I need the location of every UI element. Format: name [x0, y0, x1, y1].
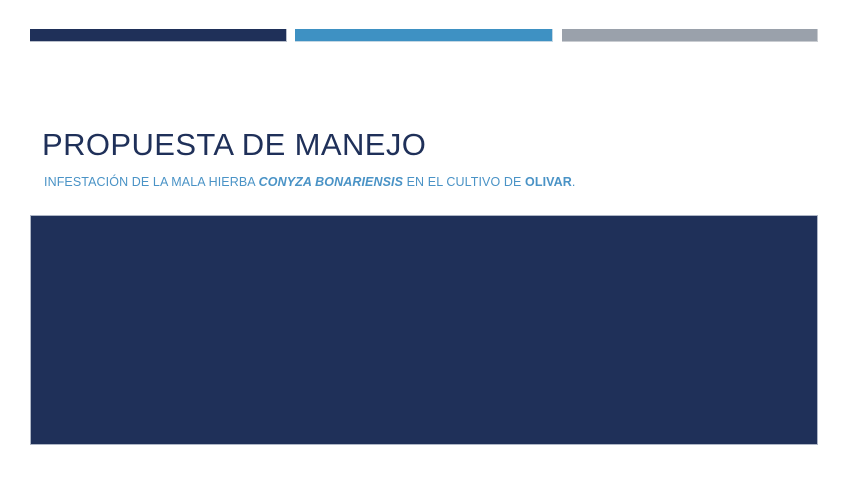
subtitle-lead-text: INFESTACIÓN DE LA MALA HIERBA — [44, 175, 259, 189]
decorative-rule-navy-segment — [30, 29, 287, 42]
title-area: PROPUESTA DE MANEJO INFESTACIÓN DE LA MA… — [42, 128, 812, 190]
subtitle-tail-text: . — [572, 175, 576, 189]
slide-title[interactable]: PROPUESTA DE MANEJO — [42, 128, 812, 163]
presentation-slide: PROPUESTA DE MANEJO INFESTACIÓN DE LA MA… — [0, 0, 848, 477]
decorative-rule-band — [0, 29, 848, 42]
decorative-rule-blue-segment — [295, 29, 553, 42]
subtitle-middle-text: EN EL CULTIVO DE — [403, 175, 525, 189]
slide-subtitle[interactable]: INFESTACIÓN DE LA MALA HIERBA CONYZA BON… — [44, 175, 812, 190]
content-placeholder-block[interactable] — [30, 215, 818, 445]
subtitle-species-name: CONYZA BONARIENSIS — [259, 175, 403, 189]
subtitle-crop-name: OLIVAR — [525, 175, 572, 189]
decorative-rule-gray-segment — [562, 29, 818, 42]
